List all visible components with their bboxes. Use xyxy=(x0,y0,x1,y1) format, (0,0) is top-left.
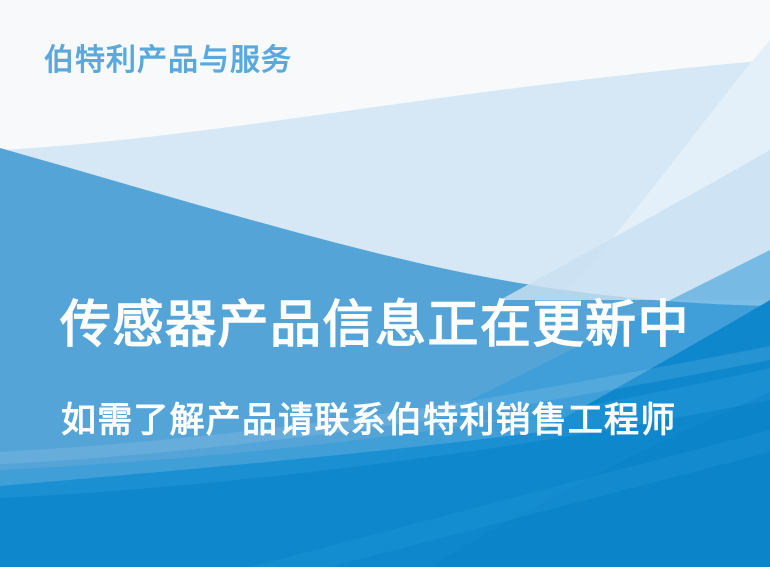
product-banner: 伯特利产品与服务 传感器产品信息正在更新中 如需了解产品请联系伯特利销售工程师 xyxy=(0,0,770,567)
decorative-background-artwork xyxy=(0,0,770,567)
